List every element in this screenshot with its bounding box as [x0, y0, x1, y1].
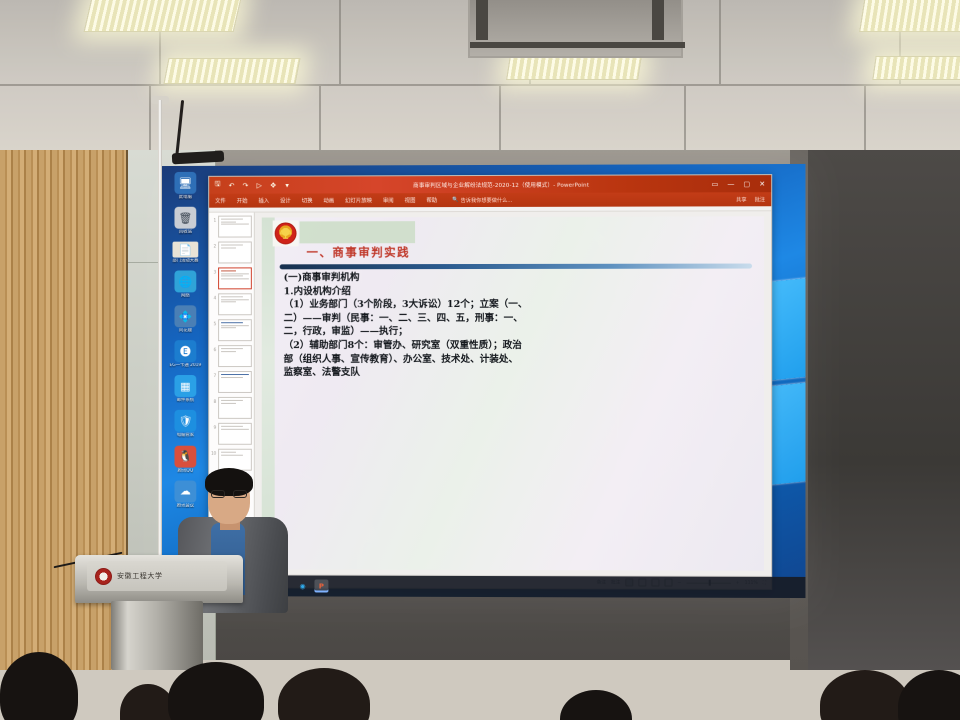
- slide-body-line: （1）业务部门（3个阶段，3大诉讼）12个；立案（一、: [284, 298, 756, 312]
- thumbnail-number: 3: [211, 267, 216, 274]
- tab-review[interactable]: 审阅: [383, 196, 394, 204]
- computer-icon: 🖥: [174, 172, 196, 194]
- lecture-hall-photo: 🖥 此电脑 🗑 回收站 📄 部门活动大赛 🌐 网络 💠 同花顺 🅔 EG: [0, 0, 960, 720]
- touch-mode-icon[interactable]: ✥: [269, 181, 278, 190]
- slide-body-line: 部（组织人事、宣传教育）、办公室、技术处、计装处、: [284, 353, 756, 367]
- slide-thumbnail[interactable]: [218, 397, 252, 419]
- close-button[interactable]: ✕: [759, 180, 765, 188]
- thumbnail-row[interactable]: 4: [211, 293, 252, 315]
- slide-thumbnail[interactable]: [218, 293, 252, 315]
- window-title: 商事审判区域与企业解纷法规范-2020-12（使用模式）- PowerPoint: [292, 180, 712, 189]
- thumbnail-row[interactable]: 1: [211, 216, 252, 238]
- desktop-icon-label: 邮件系统: [164, 398, 208, 403]
- thumbnail-row[interactable]: 2: [211, 241, 252, 263]
- slide-body-line: 二）——审判（民事：一、二、三、四、五，刑事：一、: [284, 312, 756, 326]
- desktop-icon-label: 部门活动大赛: [164, 259, 208, 264]
- save-icon[interactable]: 🖫: [213, 181, 222, 190]
- start-slideshow-icon[interactable]: ▷: [255, 181, 264, 190]
- quick-access-toolbar: 🖫 ↶ ↷ ▷ ✥ ▾: [213, 181, 291, 190]
- desktop-icon-column: 🖥 此电脑 🗑 回收站 📄 部门活动大赛 🌐 网络 💠 同花顺 🅔 EG: [164, 172, 208, 515]
- desktop-icon-5[interactable]: 🅔 EG一卡通 2019: [164, 340, 208, 368]
- customize-qat-icon[interactable]: ▾: [283, 181, 292, 190]
- tab-transitions[interactable]: 切换: [302, 196, 313, 204]
- thumbnail-number: 9: [211, 423, 216, 430]
- tell-me-placeholder: 告诉我你想要做什么...: [461, 196, 513, 203]
- slide-body-line: 二，行政，审监）——执行；: [284, 325, 756, 339]
- tab-animations[interactable]: 动画: [323, 196, 334, 204]
- thumbnail-number: 7: [211, 371, 216, 378]
- qq-icon: 🐧: [174, 445, 196, 467]
- thumbnail-row[interactable]: 7: [211, 371, 252, 393]
- university-logo: [95, 568, 112, 585]
- tab-view[interactable]: 视图: [405, 196, 416, 204]
- desktop-icon-0[interactable]: 🖥 此电脑: [164, 172, 208, 200]
- lectern-podium: 安徽工程大学: [75, 555, 243, 670]
- redo-icon[interactable]: ↷: [241, 181, 250, 190]
- thumbnail-row[interactable]: 8: [211, 397, 252, 419]
- slide-canvas-area[interactable]: 一、商事审判实践 (一)商事审判机构 1.内设机构介绍 （1）业务部门（3个阶段…: [255, 211, 771, 576]
- current-slide[interactable]: 一、商事审判实践 (一)商事审判机构 1.内设机构介绍 （1）业务部门（3个阶段…: [262, 216, 764, 570]
- projector-support-rod: [158, 100, 162, 570]
- thumbnail-number: 5: [211, 319, 216, 326]
- slide-thumbnail-selected[interactable]: [218, 267, 252, 289]
- comments-button[interactable]: 批注: [755, 196, 765, 203]
- tell-me-search[interactable]: 🔍 告诉我你想要做什么...: [452, 196, 512, 203]
- window-controls: ▭ — ▢ ✕: [712, 180, 768, 188]
- slide-thumbnail[interactable]: [218, 423, 252, 445]
- tab-slideshow[interactable]: 幻灯片放映: [345, 196, 372, 204]
- powerpoint-title-bar: 🖫 ↶ ↷ ▷ ✥ ▾ 商事审判区域与企业解纷法规范-2020-12（使用模式）…: [209, 175, 771, 194]
- ribbon-display-options-icon[interactable]: ▭: [712, 180, 719, 188]
- powerpoint-window[interactable]: 🖫 ↶ ↷ ▷ ✥ ▾ 商事审判区域与企业解纷法规范-2020-12（使用模式）…: [208, 174, 772, 590]
- slide-body-line: (一)商事审判机构: [284, 271, 756, 285]
- search-icon: 🔍: [452, 197, 458, 203]
- audience-head: [560, 690, 632, 720]
- ribbon-right-actions: 共享 批注: [736, 196, 765, 203]
- slide-title-rule: [280, 264, 752, 270]
- right-dark-wall: [800, 150, 960, 670]
- office-suite-icon: ▦: [174, 375, 196, 397]
- minimize-button[interactable]: —: [727, 180, 734, 188]
- slide-title: 一、商事审判实践: [306, 244, 410, 260]
- ribbon-tab-strip: 文件 开始 插入 设计 切换 动画 幻灯片放映 审阅 视图 帮助 🔍 告诉我你想…: [209, 192, 771, 208]
- ceiling-vent: [468, 0, 683, 58]
- slide-thumbnail[interactable]: [218, 345, 252, 367]
- chinese-court-emblem: [273, 220, 299, 246]
- thumbnail-number: 10: [211, 449, 216, 456]
- audience-head: [898, 670, 960, 720]
- desktop-icon-label: 回收站: [164, 230, 208, 235]
- thumbnail-row[interactable]: 6: [211, 345, 252, 367]
- audience-head: [820, 670, 910, 720]
- desktop-icon-label: 网络: [164, 294, 208, 299]
- scales-of-justice-icon: [279, 227, 292, 240]
- slide-body-line: 监察室、法警支队: [284, 366, 756, 380]
- edge-browser-icon[interactable]: ◉: [296, 579, 310, 592]
- browser-icon: 🌐: [174, 271, 196, 293]
- thumbnail-number: 6: [211, 345, 216, 352]
- desktop-icon-1[interactable]: 🗑 回收站: [164, 207, 208, 235]
- audience-head: [278, 668, 370, 720]
- desktop-icon-label: 同花顺: [164, 328, 208, 333]
- tab-help[interactable]: 帮助: [426, 196, 437, 204]
- slide-body-line: （2）辅助部门8个：审管办、研究室（双重性质）；政治: [284, 339, 756, 353]
- desktop-icon-label: 此电脑: [164, 195, 208, 200]
- undo-icon[interactable]: ↶: [227, 181, 236, 190]
- desktop-icon-7[interactable]: 🛡 电脑管家: [164, 410, 208, 438]
- document-icon: 📄: [172, 242, 198, 258]
- podium-label: 安徽工程大学: [117, 571, 163, 581]
- this-pc-icon: 💠: [174, 306, 196, 328]
- recycle-bin-icon: 🗑: [174, 207, 196, 229]
- share-button[interactable]: 共享: [736, 196, 746, 203]
- tab-file[interactable]: 文件: [215, 197, 226, 205]
- audience-head: [168, 662, 264, 720]
- desktop-icon-3[interactable]: 🌐 网络: [164, 271, 208, 299]
- slide-thumbnail[interactable]: [218, 319, 252, 341]
- thumbnail-number: 2: [211, 242, 216, 249]
- desktop-icon-label: 电脑管家: [164, 433, 208, 438]
- eyeglasses: [211, 490, 247, 498]
- thumbnail-number: 8: [211, 397, 216, 404]
- tab-insert[interactable]: 插入: [258, 197, 269, 205]
- tab-home[interactable]: 开始: [237, 197, 248, 205]
- antivirus-icon: 🛡: [174, 410, 196, 432]
- slide-thumbnail[interactable]: [218, 241, 252, 263]
- thumbnail-number: 4: [211, 293, 216, 300]
- thumbnail-row[interactable]: 5: [211, 319, 252, 341]
- desktop-icon-4[interactable]: 💠 同花顺: [164, 306, 208, 334]
- tab-design[interactable]: 设计: [280, 197, 291, 205]
- slide-title-band: [300, 221, 416, 243]
- thumbnail-row[interactable]: 3: [211, 267, 252, 289]
- slide-thumbnail[interactable]: [218, 371, 252, 393]
- eg-card-icon: 🅔: [174, 340, 196, 362]
- slide-thumbnail[interactable]: [218, 216, 252, 238]
- thumbnail-row[interactable]: 9: [211, 423, 252, 445]
- thumbnail-number: 1: [211, 216, 216, 223]
- slide-body-line: 1.内设机构介绍: [284, 284, 756, 298]
- slide-body-text: (一)商事审判机构 1.内设机构介绍 （1）业务部门（3个阶段，3大诉讼）12个…: [284, 271, 756, 380]
- desktop-icon-2[interactable]: 📄 部门活动大赛: [164, 242, 208, 264]
- powerpoint-work-area: 1 2 3: [209, 211, 771, 576]
- ceiling: [0, 0, 960, 150]
- maximize-button[interactable]: ▢: [743, 180, 750, 188]
- desktop-icon-label: EG一卡通 2019: [164, 363, 208, 368]
- powerpoint-taskbar-icon[interactable]: P: [314, 580, 328, 593]
- desktop-icon-6[interactable]: ▦ 邮件系统: [164, 375, 208, 403]
